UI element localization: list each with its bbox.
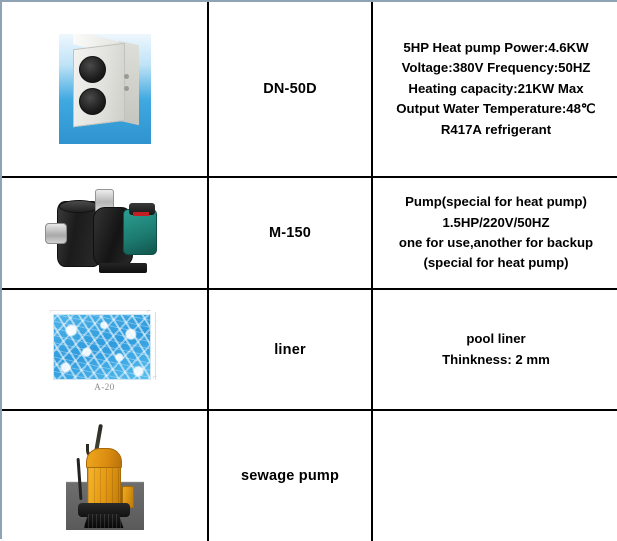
spec-line: Pump(special for heat pump) <box>399 192 593 212</box>
pump-inlet-port <box>45 223 67 244</box>
fan-icon <box>79 56 106 83</box>
model-label: M-150 <box>269 225 311 241</box>
table-row: DN-50D 5HP Heat pump Power:4.6KW Voltage… <box>2 2 617 177</box>
sewage-pump-photo <box>2 422 207 530</box>
specification-cell: 5HP Heat pump Power:4.6KW Voltage:380V F… <box>372 2 617 177</box>
liner-caption: A-20 <box>43 382 167 392</box>
specification-cell: pool liner Thinkness: 2 mm <box>372 289 617 410</box>
heat-pump-photo <box>2 34 207 144</box>
water-pump-image <box>45 187 165 279</box>
heat-pump-body <box>73 43 125 127</box>
model-cell: liner <box>208 289 372 410</box>
spec-line: 1.5HP/220V/50HZ <box>399 213 593 233</box>
corner-mark-icon: ⌐ <box>50 308 54 315</box>
corner-mark-icon: ⌐ <box>147 308 151 315</box>
spec-line: R417A refrigerant <box>396 120 595 140</box>
pump-brand-label <box>133 212 149 216</box>
spec-line: one for use,another for backup <box>399 233 593 253</box>
spec-line: 5HP Heat pump Power:4.6KW <box>396 38 595 58</box>
sewage-pump-strainer <box>84 514 124 528</box>
specification-cell: Pump(special for heat pump) 1.5HP/220V/5… <box>372 177 617 289</box>
product-image-cell <box>2 2 208 177</box>
specification-text: 5HP Heat pump Power:4.6KW Voltage:380V F… <box>390 38 601 140</box>
spec-line: Thinkness: 2 mm <box>442 350 550 370</box>
table-row: sewage pump <box>2 410 617 541</box>
product-image-cell <box>2 410 208 541</box>
spec-line: (special for heat pump) <box>399 253 593 273</box>
model-cell: M-150 <box>208 177 372 289</box>
table-row: ⌐ ⌐ ⌐ A-20 liner pool line <box>2 289 617 410</box>
model-label: DN-50D <box>263 81 317 97</box>
specification-text: pool liner Thinkness: 2 mm <box>436 329 556 370</box>
model-label: liner <box>274 342 306 358</box>
liner-pattern-swatch <box>53 314 151 380</box>
pump-lid-ring <box>59 200 99 213</box>
sewage-pump-image <box>66 422 144 530</box>
spec-line: Output Water Temperature:48℃ <box>396 99 595 119</box>
pool-liner-image: ⌐ ⌐ ⌐ A-20 <box>43 304 167 396</box>
spec-sheet-page: DN-50D 5HP Heat pump Power:4.6KW Voltage… <box>0 0 617 539</box>
heat-pump-valve-dot <box>124 86 129 91</box>
pool-liner-photo: ⌐ ⌐ ⌐ A-20 <box>2 304 207 396</box>
product-image-cell <box>2 177 208 289</box>
dimension-line-horizontal <box>53 310 151 311</box>
fan-icon <box>79 88 106 115</box>
corner-mark-icon: ⌐ <box>153 374 157 381</box>
model-cell: DN-50D <box>208 2 372 177</box>
water-pump-photo <box>2 187 207 279</box>
spec-line: Voltage:380V Frequency:50HZ <box>396 58 595 78</box>
spec-line: pool liner <box>442 329 550 349</box>
product-spec-table: DN-50D 5HP Heat pump Power:4.6KW Voltage… <box>2 2 617 541</box>
heat-pump-valve-dot <box>124 74 129 79</box>
table-row: M-150 Pump(special for heat pump) 1.5HP/… <box>2 177 617 289</box>
model-label: sewage pump <box>241 468 339 484</box>
specification-text: Pump(special for heat pump) 1.5HP/220V/5… <box>393 192 599 274</box>
specification-cell <box>372 410 617 541</box>
spec-line: Heating capacity:21KW Max <box>396 79 595 99</box>
sewage-pump-body <box>87 467 121 505</box>
model-cell: sewage pump <box>208 410 372 541</box>
dimension-line-vertical <box>155 312 156 380</box>
sewage-pump-cable <box>76 458 82 500</box>
product-image-cell: ⌐ ⌐ ⌐ A-20 <box>2 289 208 410</box>
heat-pump-image <box>59 34 151 144</box>
pump-base-foot <box>99 263 147 273</box>
